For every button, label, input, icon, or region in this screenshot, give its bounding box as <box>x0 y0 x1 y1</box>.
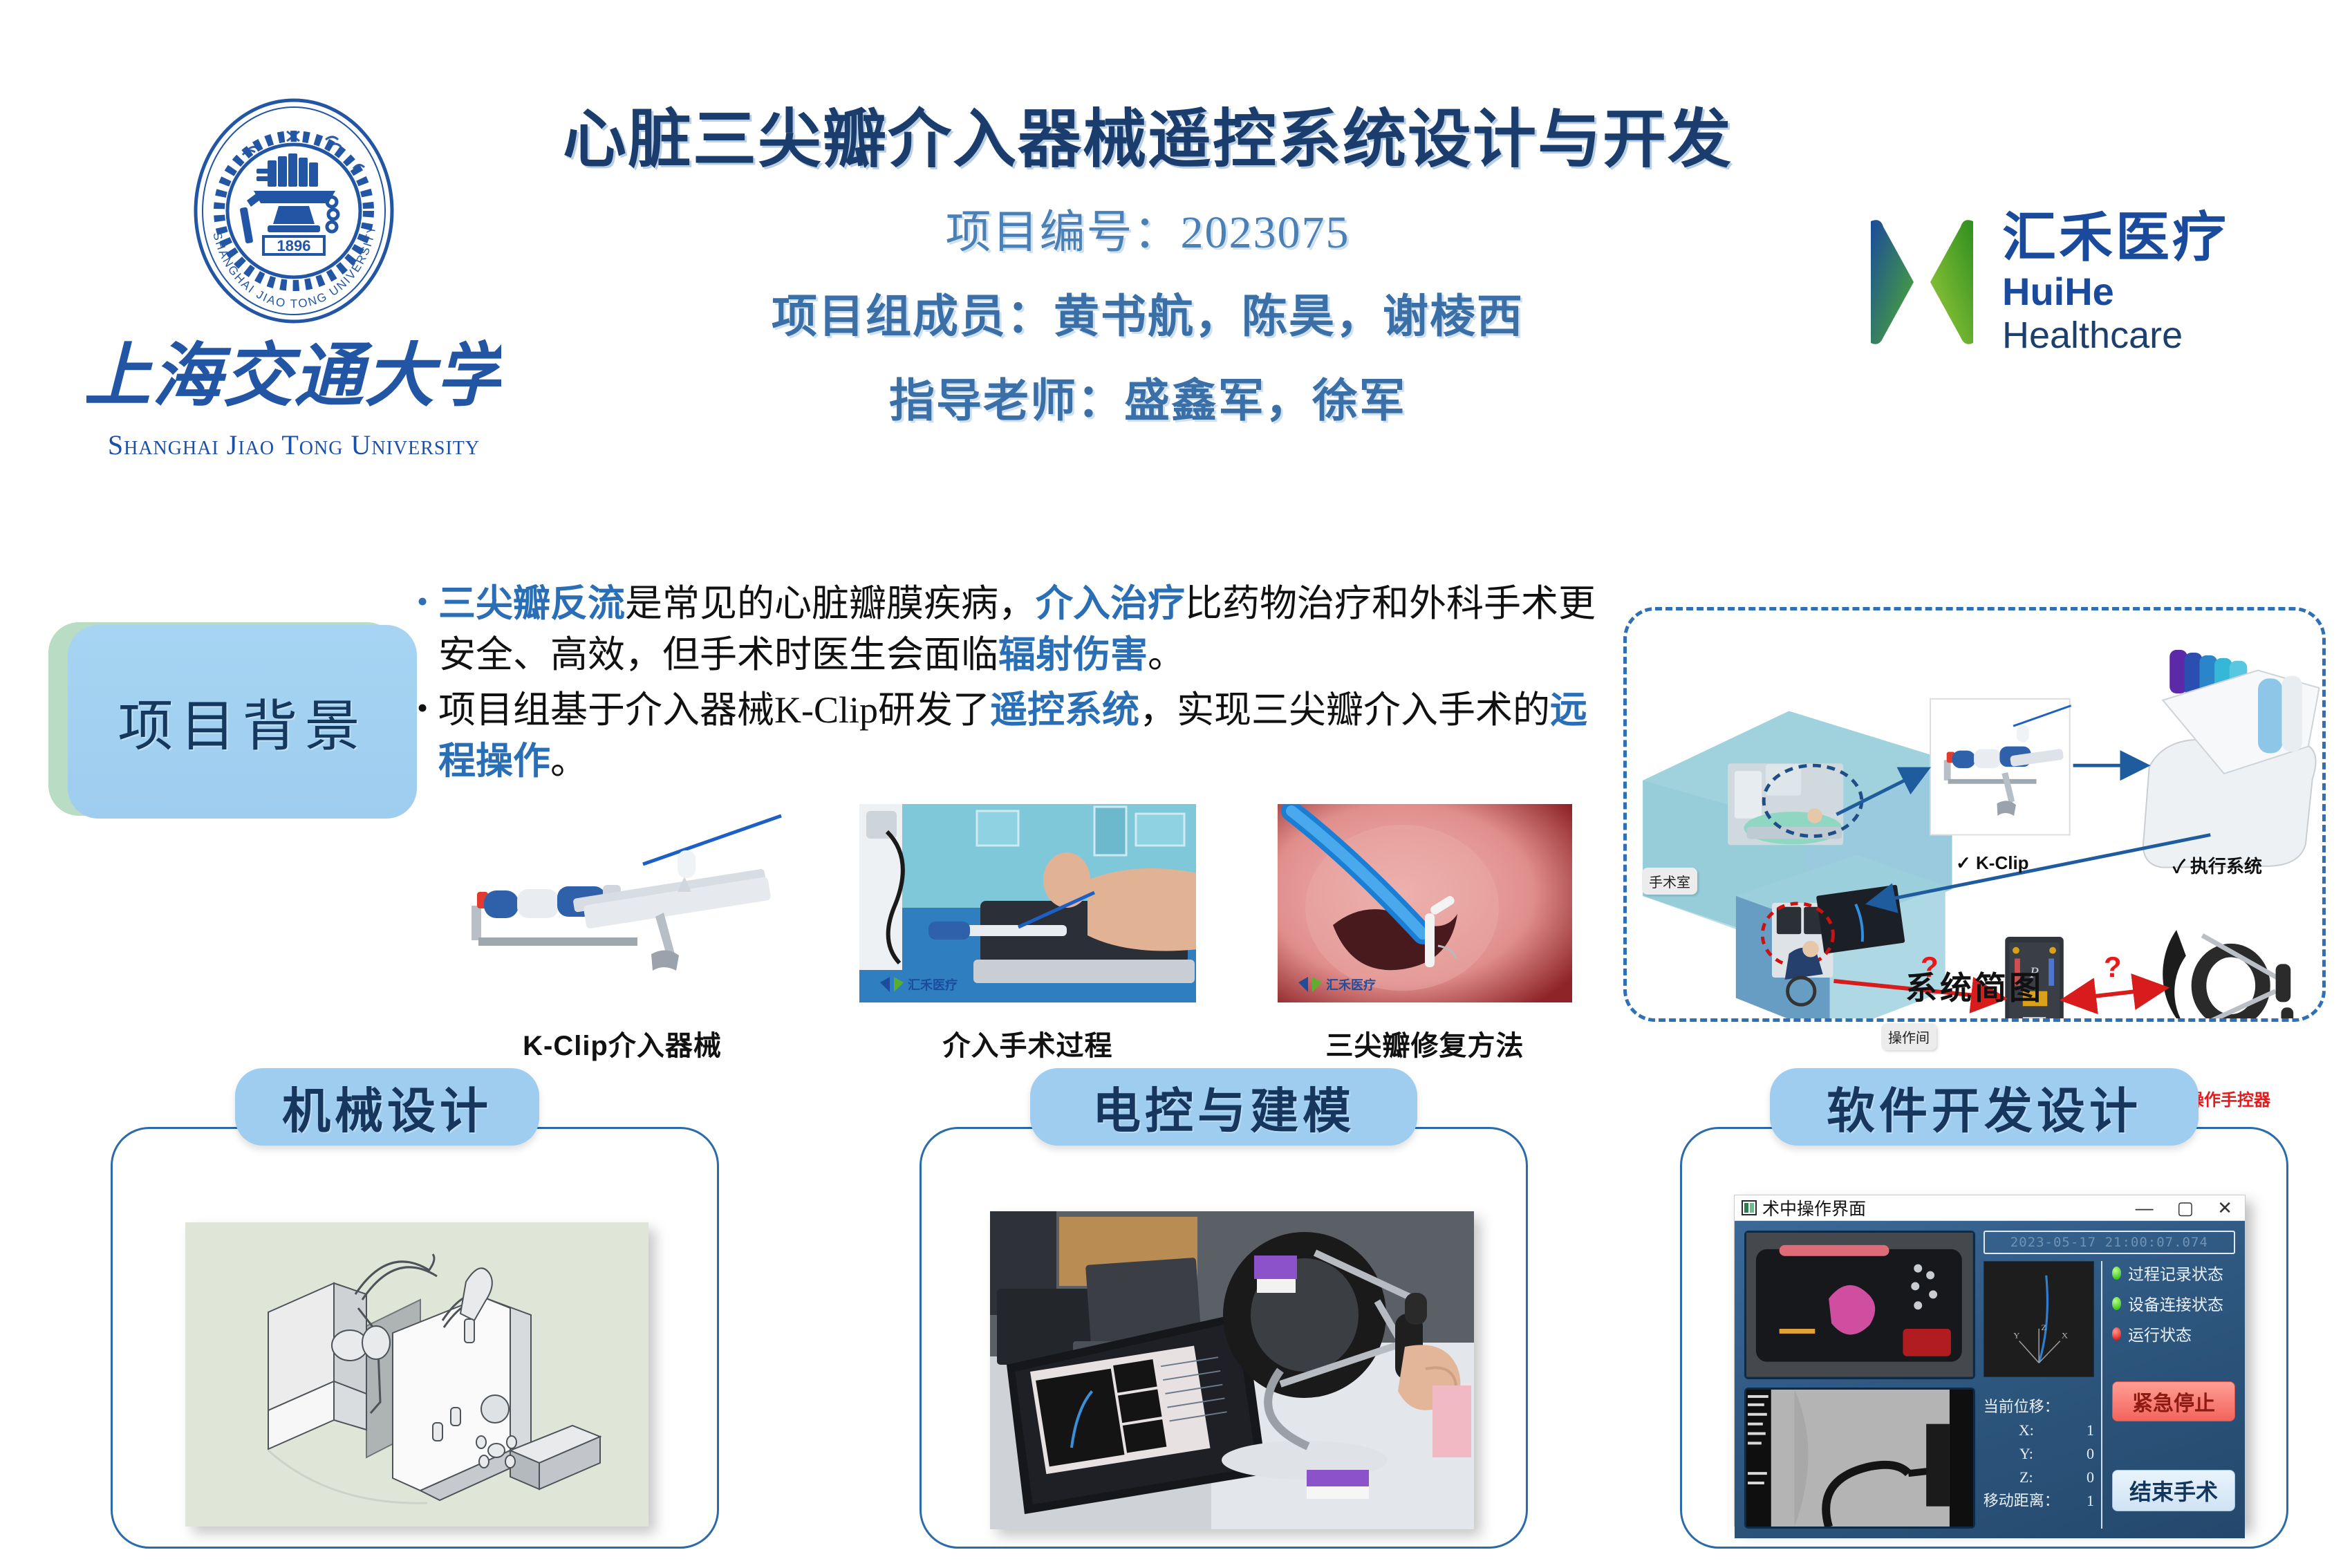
readout-key: Y: <box>1984 1442 2069 1466</box>
minimize-button[interactable]: — <box>2136 1199 2154 1217</box>
valve-repair-image: 汇禾医疗 <box>1278 804 1572 1002</box>
svg-text:上海交通大学: 上海交通大学 <box>86 337 501 415</box>
project-members: 项目组成员：黄书航，陈昊，谢棱西 <box>484 279 1811 346</box>
seal-year: 1896 <box>277 237 311 254</box>
system-diagram-title: 系统简图 <box>1627 963 2322 1009</box>
panel-badge-mechanical: 机械设计 <box>235 1068 539 1146</box>
window-titlebar: 术中操作界面 — ▢ ✕ <box>1735 1195 2245 1221</box>
distance-row: 移动距离： 1 <box>1984 1489 2094 1513</box>
kclip-device-image <box>436 802 809 1002</box>
label-kclip: ✓ K-Clip <box>1956 852 2029 874</box>
distance-key: 移动距离： <box>1984 1489 2069 1513</box>
panel-badge-software: 软件开发设计 <box>1770 1068 2199 1146</box>
caption-kclip: K-Clip介入器械 <box>436 1023 809 1063</box>
readout-row: Y: 0 <box>1984 1442 2094 1466</box>
list-item: • 三尖瓣反流是常见的心脏瓣膜疾病，介入治疗比药物治疗和外科手术更安全、高效，但… <box>407 578 1623 680</box>
status-led-icon <box>2112 1327 2121 1341</box>
xray-fluoroscopy-feed <box>1744 1388 1975 1529</box>
emergency-stop-button[interactable]: 紧急停止 <box>2112 1381 2235 1421</box>
system-diagram: R <box>1623 607 2326 1022</box>
status-label: 设备连接状态 <box>2128 1291 2223 1315</box>
bullet-text-2: 项目组基于介入器械K-Clip研发了遥控系统，实现三尖瓣介入手术的远程操作。 <box>438 684 1623 787</box>
label-control-room: 操作间 <box>1881 1023 1936 1050</box>
sjtu-seal-icon: 1896 SHANGHAI JIAO TONG UNIVERSITY <box>190 97 398 325</box>
surgery-process-image: 汇禾医疗 <box>859 804 1196 1002</box>
ultrasound-video-feed <box>1744 1231 1975 1379</box>
window-title: 术中操作界面 <box>1762 1195 1866 1220</box>
maximize-button[interactable]: ▢ <box>2177 1199 2194 1217</box>
huihe-mark-icon <box>1860 213 1984 351</box>
page-title: 心脏三尖瓣介入器械遥控系统设计与开发 <box>484 104 1811 177</box>
panel-badge-label: 机械设计 <box>282 1072 492 1142</box>
status-led-icon <box>2112 1297 2121 1310</box>
panel-badge-label: 软件开发设计 <box>1827 1072 2142 1142</box>
status-row: 运行状态 <box>2112 1322 2235 1345</box>
readout-row: X: 1 <box>1984 1419 2094 1442</box>
project-number: 项目编号：2023075 <box>484 195 1811 261</box>
timestamp-display: 2023-05-17 21:00:07.074 <box>1984 1231 2235 1254</box>
bullet-dot-icon: • <box>407 684 438 731</box>
status-led-icon <box>2112 1267 2121 1280</box>
poster-header: 1896 SHANGHAI JIAO TONG UNIVERSITY 上海交通 <box>0 0 2352 525</box>
svg-text:Z: Z <box>2041 1323 2046 1332</box>
svg-text:汇禾医疗: 汇禾医疗 <box>908 978 958 992</box>
caption-surgery: 介入手术过程 <box>859 1023 1196 1063</box>
background-badge-label: 项目背景 <box>118 682 367 762</box>
window-body: 2023-05-17 21:00:07.074 <box>1735 1221 2245 1538</box>
panel-badge-label: 电控与建模 <box>1092 1072 1355 1142</box>
mechanical-design-image <box>185 1222 648 1527</box>
timestamp-value: 2023-05-17 21:00:07.074 <box>2010 1235 2208 1250</box>
catheter-3d-plot: YX Z <box>1984 1261 2094 1377</box>
bullet-text-1: 三尖瓣反流是常见的心脏瓣膜疾病，介入治疗比药物治疗和外科手术更安全、高效，但手术… <box>438 578 1623 680</box>
label-execution-system: ✓ 执行系统 <box>2173 852 2262 878</box>
status-row: 设备连接状态 <box>2112 1291 2235 1315</box>
background-bullets: • 三尖瓣反流是常见的心脏瓣膜疾病，介入治疗比药物治疗和外科手术更安全、高效，但… <box>407 578 1623 791</box>
background-badge: 项目背景 <box>48 622 422 823</box>
readout-value: 0 <box>2069 1442 2094 1466</box>
huihe-name-en: HuiHe <box>2002 272 2229 311</box>
distance-value: 1 <box>2069 1489 2094 1513</box>
readout-row: Z: 0 <box>1984 1466 2094 1489</box>
readout-key: Z: <box>1984 1466 2069 1489</box>
sjtu-logo: 1896 SHANGHAI JIAO TONG UNIVERSITY 上海交通 <box>73 97 515 491</box>
huihe-tagline: Healthcare <box>2002 317 2229 354</box>
svg-text:Y: Y <box>2013 1331 2019 1341</box>
readout-title: 当前位移： <box>1984 1395 2094 1419</box>
status-label: 运行状态 <box>2128 1322 2192 1345</box>
sjtu-wordmark-en: Shanghai Jiao Tong University <box>108 429 480 461</box>
caption-valve-repair: 三尖瓣修复方法 <box>1278 1023 1572 1063</box>
svg-text:X: X <box>2062 1331 2068 1341</box>
panel-badge-electronics: 电控与建模 <box>1030 1068 1417 1146</box>
huihe-logo: 汇禾医疗 HuiHe Healthcare <box>1860 178 2288 386</box>
app-icon <box>1742 1200 1757 1215</box>
readout-key: X: <box>1984 1419 2069 1442</box>
bullet-dot-icon: • <box>407 578 438 625</box>
close-button[interactable]: ✕ <box>2217 1199 2232 1217</box>
huihe-name-cn: 汇禾医疗 <box>2002 210 2229 264</box>
displacement-readout: 当前位移： X: 1 Y: 0 Z: 0 <box>1984 1395 2094 1513</box>
project-advisors: 指导老师：盛鑫军，徐军 <box>484 364 1811 430</box>
list-item: • 项目组基于介入器械K-Clip研发了遥控系统，实现三尖瓣介入手术的远程操作。 <box>407 684 1623 787</box>
svg-text:汇禾医疗: 汇禾医疗 <box>1326 978 1376 992</box>
status-row: 过程记录状态 <box>2112 1261 2235 1285</box>
readout-value: 0 <box>2069 1466 2094 1489</box>
label-operating-room: 手术室 <box>1642 868 1697 895</box>
electronics-modeling-image <box>990 1211 1474 1529</box>
title-block: 心脏三尖瓣介入器械遥控系统设计与开发 项目编号：2023075 项目组成员：黄书… <box>484 104 1811 430</box>
poster-root: 1896 SHANGHAI JIAO TONG UNIVERSITY 上海交通 <box>0 0 2352 1568</box>
sjtu-wordmark-cn: 上海交通大学 <box>86 337 501 419</box>
readout-value: 1 <box>2069 1419 2094 1442</box>
software-window: 术中操作界面 — ▢ ✕ <box>1734 1195 2246 1527</box>
status-label: 过程记录状态 <box>2128 1261 2223 1285</box>
end-surgery-button[interactable]: 结束手术 <box>2112 1470 2235 1511</box>
